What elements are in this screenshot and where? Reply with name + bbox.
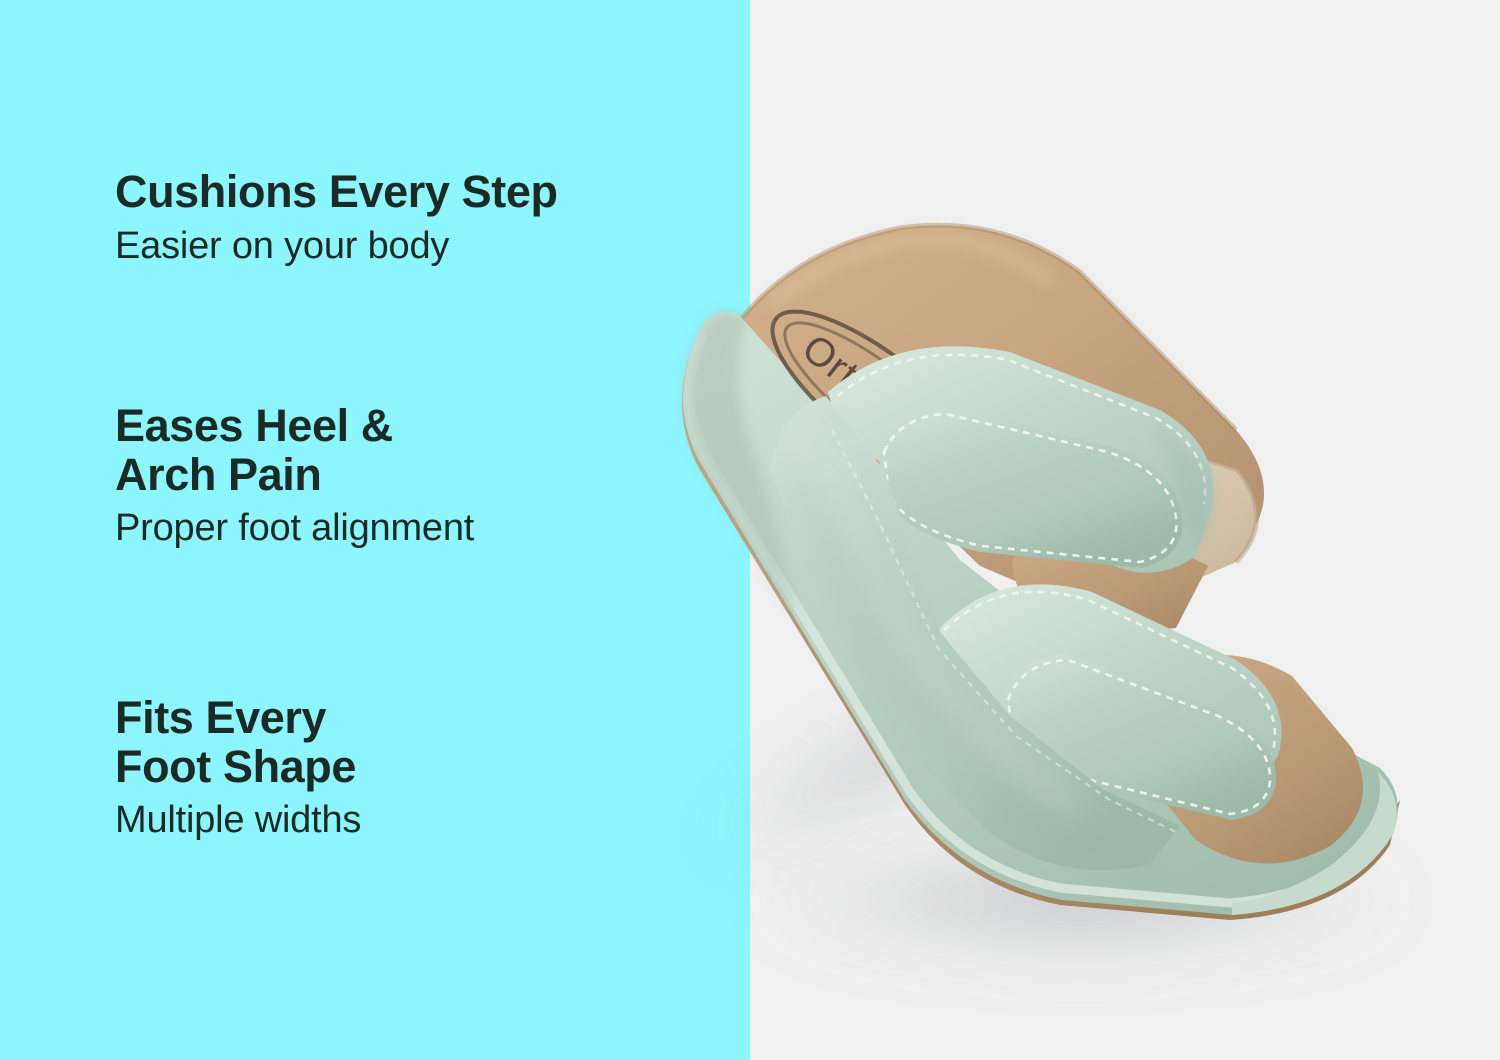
- benefit-block-2: Eases Heel & Arch Pain Proper foot align…: [115, 402, 735, 550]
- benefit-block-1: Cushions Every Step Easier on your body: [115, 168, 735, 267]
- benefit-1-headline: Cushions Every Step: [115, 168, 735, 217]
- benefit-3-subline: Multiple widths: [115, 799, 735, 842]
- benefit-2-headline: Eases Heel & Arch Pain: [115, 402, 735, 499]
- promo-banner: Orth F: [0, 0, 1500, 1060]
- benefit-1-subline: Easier on your body: [115, 225, 735, 268]
- benefit-2-subline: Proper foot alignment: [115, 507, 735, 550]
- benefit-3-headline: Fits Every Foot Shape: [115, 694, 735, 791]
- benefit-block-3: Fits Every Foot Shape Multiple widths: [115, 694, 735, 842]
